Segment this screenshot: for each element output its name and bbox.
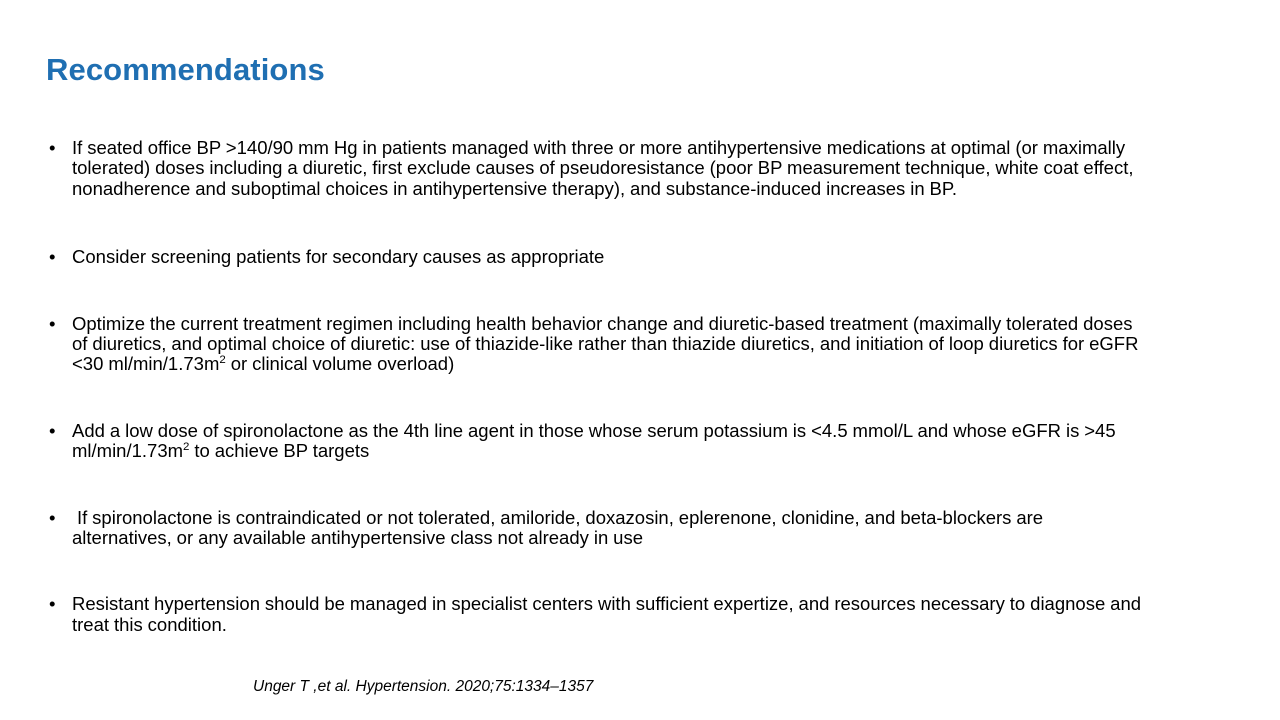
- bullet-dot-icon: •: [49, 594, 55, 614]
- bullet-dot-icon: •: [49, 247, 55, 267]
- list-item-text: Resistant hypertension should be managed…: [72, 594, 1145, 635]
- list-item-text: If seated office BP >140/90 mm Hg in pat…: [72, 138, 1145, 199]
- list-item: • Resistant hypertension should be manag…: [40, 594, 1145, 635]
- list-item: • Optimize the current treatment regimen…: [40, 314, 1145, 375]
- source-citation: Unger T ,et al. Hypertension. 2020;75:13…: [253, 677, 593, 697]
- page-title: Recommendations: [46, 50, 325, 90]
- list-item: • If seated office BP >140/90 mm Hg in p…: [40, 138, 1145, 199]
- list-item-text: Optimize the current treatment regimen i…: [72, 314, 1145, 375]
- list-item-text-part: or clinical volume overload): [226, 353, 455, 374]
- bullet-dot-icon: •: [49, 138, 55, 158]
- list-item: • Add a low dose of spironolactone as th…: [40, 421, 1145, 462]
- list-item-text: If spironolactone is contraindicated or …: [72, 508, 1145, 549]
- list-item: • Consider screening patients for second…: [40, 247, 1145, 267]
- recommendations-bullet-list: • If seated office BP >140/90 mm Hg in p…: [40, 138, 1145, 635]
- slide-canvas: Recommendations • If seated office BP >1…: [0, 0, 1280, 720]
- bullet-dot-icon: •: [49, 314, 55, 334]
- bullet-dot-icon: •: [49, 508, 55, 528]
- list-item: • If spironolactone is contraindicated o…: [40, 508, 1145, 549]
- list-item-text: Add a low dose of spironolactone as the …: [72, 421, 1145, 462]
- bullet-dot-icon: •: [49, 421, 55, 441]
- list-item-text-part: to achieve BP targets: [189, 440, 369, 461]
- list-item-text: Consider screening patients for secondar…: [72, 247, 1145, 267]
